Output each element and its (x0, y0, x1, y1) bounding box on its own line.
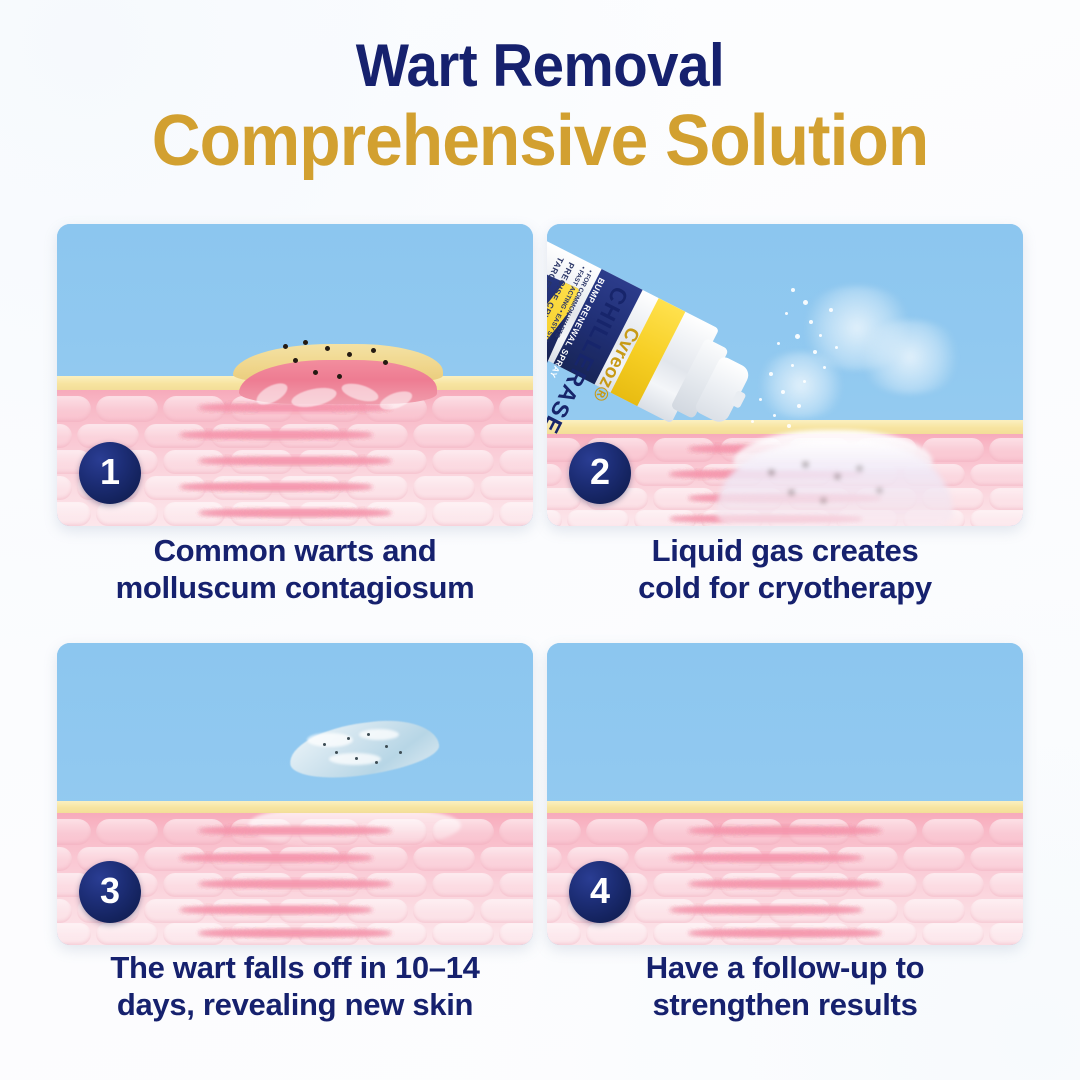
step-card-3: 3 (57, 643, 533, 945)
caption-line: Common warts and (57, 533, 533, 570)
step-number-3: 3 (100, 873, 120, 909)
step-number-1: 1 (100, 454, 120, 490)
epidermis-layer (547, 801, 1023, 813)
mist-cloud (855, 320, 965, 394)
step-number-4: 4 (590, 873, 610, 909)
step-card-2: CHILLERASE Cvreoz® BUMP RENEWAL SPRAY PR… (547, 224, 1023, 526)
title-block: Wart Removal Comprehensive Solution (0, 36, 1080, 180)
step-card-4: 4 (547, 643, 1023, 945)
caption-line: cold for cryotherapy (547, 570, 1023, 607)
step-badge-4: 4 (569, 861, 631, 923)
step-caption-1: Common warts and molluscum contagiosum (57, 533, 533, 606)
wart-lesion (233, 338, 443, 408)
mist-cloud (753, 352, 849, 418)
epidermis-layer (547, 420, 1023, 434)
step-caption-4: Have a follow-up to strengthen results (547, 950, 1023, 1023)
caption-line: The wart falls off in 10–14 (57, 950, 533, 987)
caption-line: strengthen results (547, 987, 1023, 1024)
page-title-secondary: Comprehensive Solution (32, 104, 1047, 180)
caption-line: Liquid gas creates (547, 533, 1023, 570)
page-title-primary: Wart Removal (32, 36, 1047, 96)
step-badge-1: 1 (79, 442, 141, 504)
caption-line: molluscum contagiosum (57, 570, 533, 607)
step-caption-2: Liquid gas creates cold for cryotherapy (547, 533, 1023, 606)
step-badge-2: 2 (569, 442, 631, 504)
step-number-2: 2 (590, 454, 610, 490)
caption-line: days, revealing new skin (57, 987, 533, 1024)
step-card-1: 1 (57, 224, 533, 526)
step-badge-3: 3 (79, 861, 141, 923)
step-caption-3: The wart falls off in 10–14 days, reveal… (57, 950, 533, 1023)
infographic-page: Wart Removal Comprehensive Solution (0, 0, 1080, 1080)
caption-line: Have a follow-up to (547, 950, 1023, 987)
epidermis-layer (57, 801, 533, 813)
detached-wart-scab (289, 723, 439, 775)
